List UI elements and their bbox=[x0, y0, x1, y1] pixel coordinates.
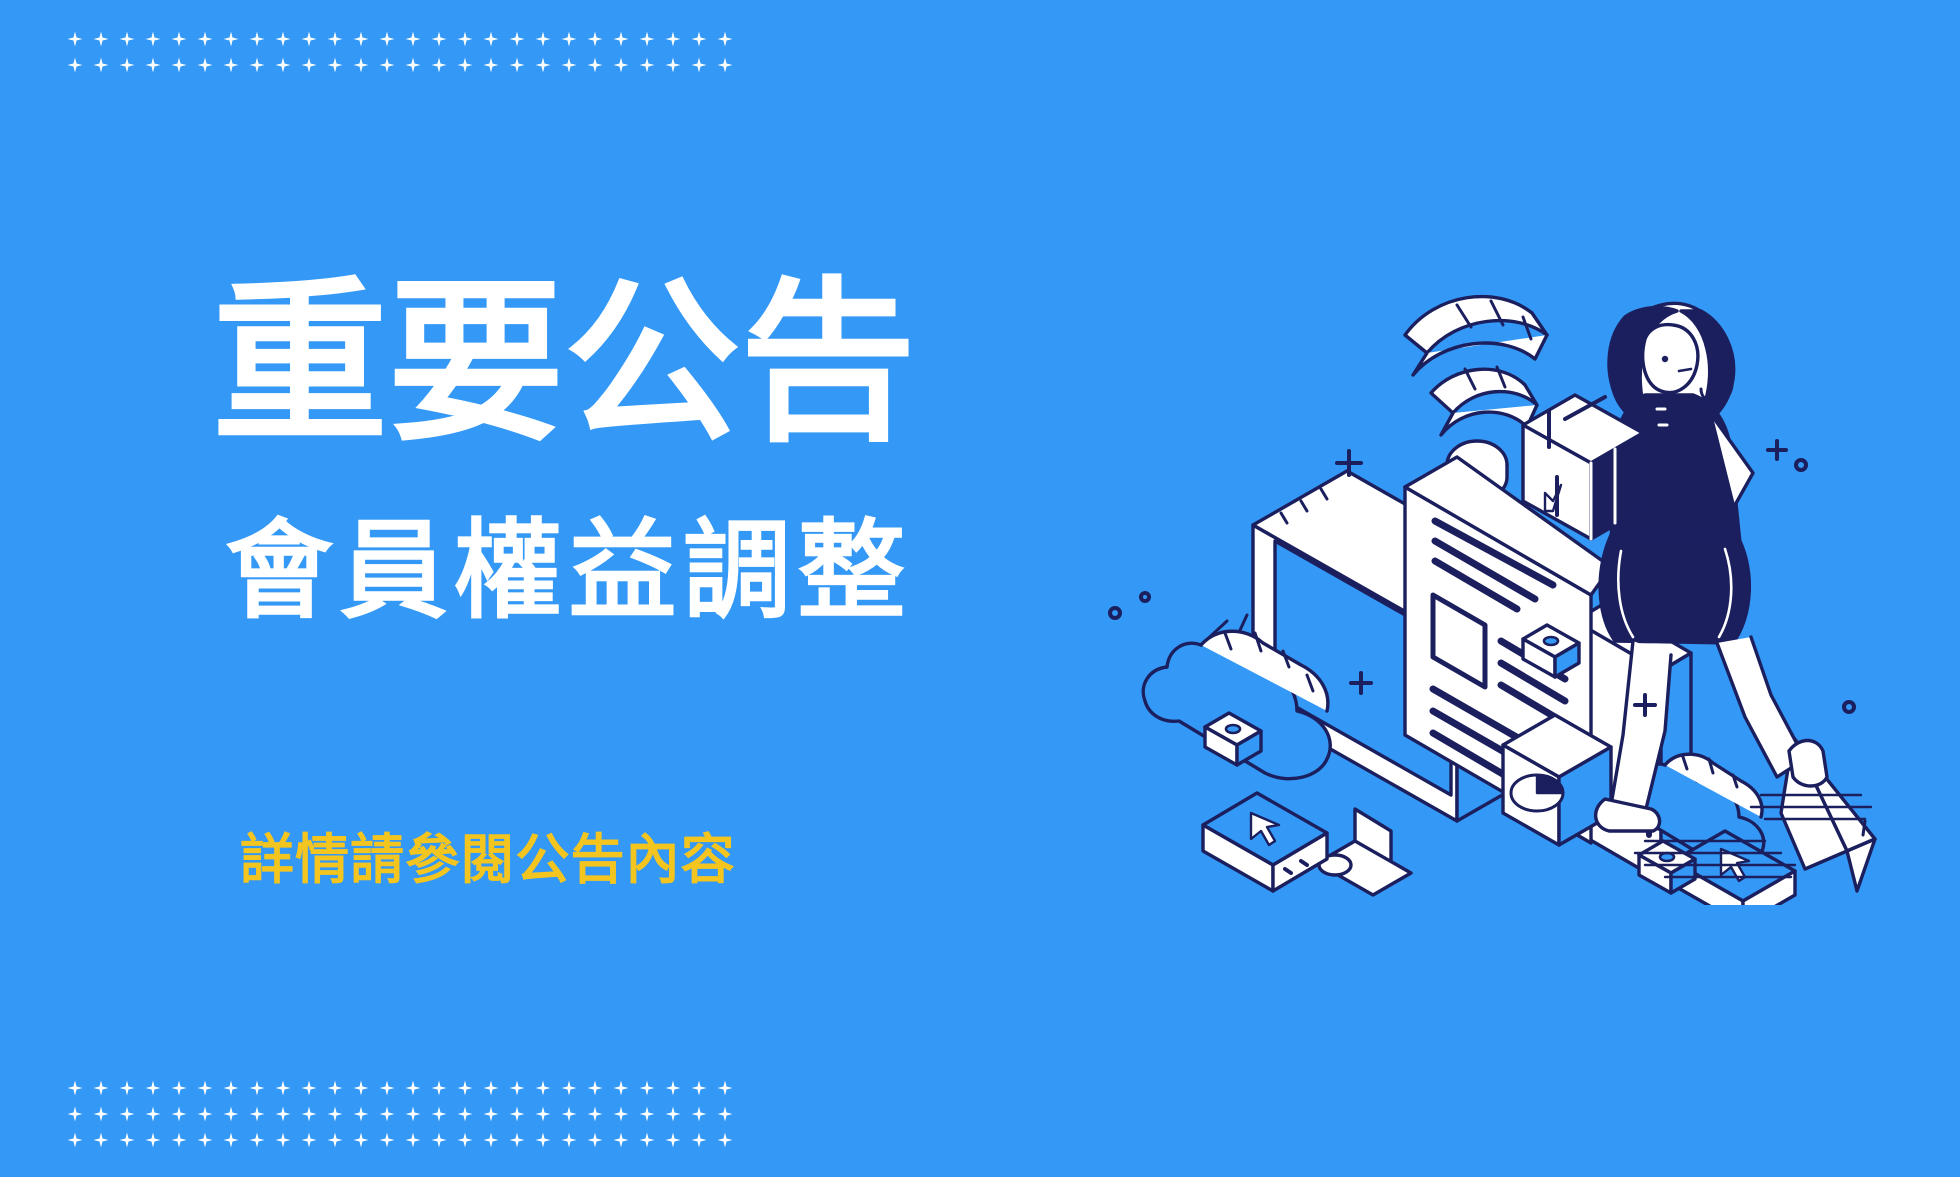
diamond-dot bbox=[660, 52, 686, 78]
diamond-dot bbox=[374, 1075, 400, 1101]
diamond-dot bbox=[660, 1127, 686, 1153]
diamond-dot bbox=[166, 52, 192, 78]
diamond-dot bbox=[634, 26, 660, 52]
diamond-dot bbox=[478, 26, 504, 52]
diamond-dot bbox=[296, 1127, 322, 1153]
diamond-dot bbox=[556, 26, 582, 52]
diamond-dot bbox=[62, 1127, 88, 1153]
diamond-dot bbox=[348, 1101, 374, 1127]
diamond-dot bbox=[192, 1127, 218, 1153]
diamond-dot bbox=[608, 1075, 634, 1101]
diamond-dot bbox=[88, 1127, 114, 1153]
diamond-dot bbox=[530, 52, 556, 78]
diamond-dot bbox=[712, 1101, 738, 1127]
diamond-dot bbox=[582, 1127, 608, 1153]
diamond-dot bbox=[530, 26, 556, 52]
diamond-dot bbox=[140, 1101, 166, 1127]
diamond-dot bbox=[582, 26, 608, 52]
diamond-dot bbox=[140, 1127, 166, 1153]
diamond-dot bbox=[530, 1127, 556, 1153]
diamond-dot bbox=[712, 52, 738, 78]
diamond-dot bbox=[348, 52, 374, 78]
diamond-dot bbox=[322, 52, 348, 78]
diamond-dot bbox=[114, 1075, 140, 1101]
diamond-dot bbox=[244, 1075, 270, 1101]
diamond-dot bbox=[582, 52, 608, 78]
diamond-dot bbox=[556, 52, 582, 78]
diamond-dot bbox=[608, 1127, 634, 1153]
diamond-dot bbox=[322, 1127, 348, 1153]
diamond-dot bbox=[140, 52, 166, 78]
diamond-dot bbox=[608, 1101, 634, 1127]
diamond-dot bbox=[400, 1101, 426, 1127]
diamond-dot bbox=[218, 26, 244, 52]
diamond-dot bbox=[322, 1101, 348, 1127]
diamond-dot bbox=[114, 52, 140, 78]
diamond-dot bbox=[88, 26, 114, 52]
diamond-dot bbox=[374, 26, 400, 52]
diamond-dot bbox=[322, 26, 348, 52]
diamond-dot bbox=[192, 52, 218, 78]
diamond-dot bbox=[686, 1075, 712, 1101]
diamond-dot bbox=[582, 1101, 608, 1127]
diamond-dot bbox=[504, 52, 530, 78]
diamond-dot bbox=[218, 1075, 244, 1101]
diamond-dot bbox=[504, 26, 530, 52]
diamond-dot bbox=[478, 1075, 504, 1101]
diamond-dot bbox=[504, 1075, 530, 1101]
diamond-dot bbox=[270, 1101, 296, 1127]
diamond-dot bbox=[270, 1075, 296, 1101]
headline-main: 重要公告 bbox=[212, 276, 916, 452]
decorative-dot-pattern-bottom bbox=[62, 1075, 738, 1153]
announcement-banner: 重要公告 會員權益調整 詳情請參閱公告內容 bbox=[0, 0, 1960, 1177]
diamond-dot bbox=[166, 1075, 192, 1101]
diamond-dot bbox=[556, 1075, 582, 1101]
diamond-dot bbox=[634, 1127, 660, 1153]
diamond-dot bbox=[114, 26, 140, 52]
diamond-dot bbox=[348, 1075, 374, 1101]
diamond-dot bbox=[582, 1075, 608, 1101]
diamond-dot bbox=[660, 1075, 686, 1101]
headline-sub: 會員權益調整 bbox=[225, 517, 912, 625]
diamond-dot bbox=[114, 1101, 140, 1127]
diamond-dot bbox=[62, 52, 88, 78]
diamond-dot bbox=[244, 52, 270, 78]
diamond-dot bbox=[348, 1127, 374, 1153]
diamond-dot bbox=[88, 1075, 114, 1101]
diamond-dot bbox=[192, 26, 218, 52]
diamond-dot bbox=[712, 1075, 738, 1101]
diamond-dot bbox=[556, 1101, 582, 1127]
diamond-dot bbox=[452, 1127, 478, 1153]
diamond-dot bbox=[322, 1075, 348, 1101]
diamond-dot bbox=[192, 1075, 218, 1101]
diamond-dot bbox=[634, 1075, 660, 1101]
cursor-pad-icon-left bbox=[1203, 793, 1327, 891]
diamond-dot bbox=[400, 26, 426, 52]
diamond-dot bbox=[270, 26, 296, 52]
diamond-dot bbox=[426, 1075, 452, 1101]
diamond-dot bbox=[712, 26, 738, 52]
diamond-dot bbox=[348, 26, 374, 52]
diamond-dot bbox=[296, 26, 322, 52]
diamond-dot bbox=[686, 52, 712, 78]
diamond-dot bbox=[478, 1127, 504, 1153]
diamond-dot bbox=[374, 1101, 400, 1127]
diamond-dot bbox=[686, 1127, 712, 1153]
diamond-dot bbox=[504, 1101, 530, 1127]
diamond-dot bbox=[88, 52, 114, 78]
diamond-dot bbox=[686, 26, 712, 52]
diamond-dot bbox=[270, 1127, 296, 1153]
diamond-dot bbox=[686, 1101, 712, 1127]
diamond-dot bbox=[556, 1127, 582, 1153]
diamond-dot bbox=[140, 1075, 166, 1101]
diamond-dot bbox=[140, 26, 166, 52]
diamond-dot bbox=[192, 1101, 218, 1127]
diamond-dot bbox=[400, 1075, 426, 1101]
diamond-dot bbox=[452, 26, 478, 52]
diamond-dot bbox=[634, 52, 660, 78]
diamond-dot bbox=[244, 1101, 270, 1127]
diamond-dot bbox=[530, 1075, 556, 1101]
diamond-dot bbox=[270, 52, 296, 78]
diamond-dot bbox=[374, 1127, 400, 1153]
diamond-dot bbox=[452, 52, 478, 78]
decorative-dot-pattern-top bbox=[62, 26, 738, 78]
subtitle-text: 詳情請參閱公告內容 bbox=[240, 815, 736, 894]
diamond-dot bbox=[530, 1101, 556, 1127]
diamond-dot bbox=[218, 1101, 244, 1127]
diamond-dot bbox=[608, 26, 634, 52]
diamond-dot bbox=[166, 26, 192, 52]
diamond-dot bbox=[296, 52, 322, 78]
diamond-dot bbox=[166, 1101, 192, 1127]
diamond-dot bbox=[504, 1127, 530, 1153]
diamond-dot bbox=[608, 52, 634, 78]
diamond-dot bbox=[660, 1101, 686, 1127]
diamond-dot bbox=[218, 1127, 244, 1153]
diamond-dot bbox=[62, 1075, 88, 1101]
diamond-dot bbox=[634, 1101, 660, 1127]
diamond-dot bbox=[426, 26, 452, 52]
diamond-dot bbox=[426, 1101, 452, 1127]
diamond-dot bbox=[218, 52, 244, 78]
isometric-illustration bbox=[1105, 265, 1905, 905]
diamond-dot bbox=[166, 1127, 192, 1153]
diamond-dot bbox=[400, 52, 426, 78]
diamond-dot bbox=[374, 52, 400, 78]
diamond-dot bbox=[296, 1075, 322, 1101]
diamond-dot bbox=[296, 1101, 322, 1127]
diamond-dot bbox=[660, 26, 686, 52]
diamond-dot bbox=[244, 26, 270, 52]
diamond-dot bbox=[62, 26, 88, 52]
diamond-dot bbox=[62, 1101, 88, 1127]
diamond-dot bbox=[426, 1127, 452, 1153]
diamond-dot bbox=[452, 1075, 478, 1101]
diamond-dot bbox=[712, 1127, 738, 1153]
diamond-dot bbox=[478, 52, 504, 78]
diamond-dot bbox=[452, 1101, 478, 1127]
diamond-dot bbox=[400, 1127, 426, 1153]
diamond-dot bbox=[478, 1101, 504, 1127]
diamond-dot bbox=[426, 52, 452, 78]
diamond-dot bbox=[88, 1101, 114, 1127]
diamond-dot bbox=[114, 1127, 140, 1153]
diamond-dot bbox=[244, 1127, 270, 1153]
